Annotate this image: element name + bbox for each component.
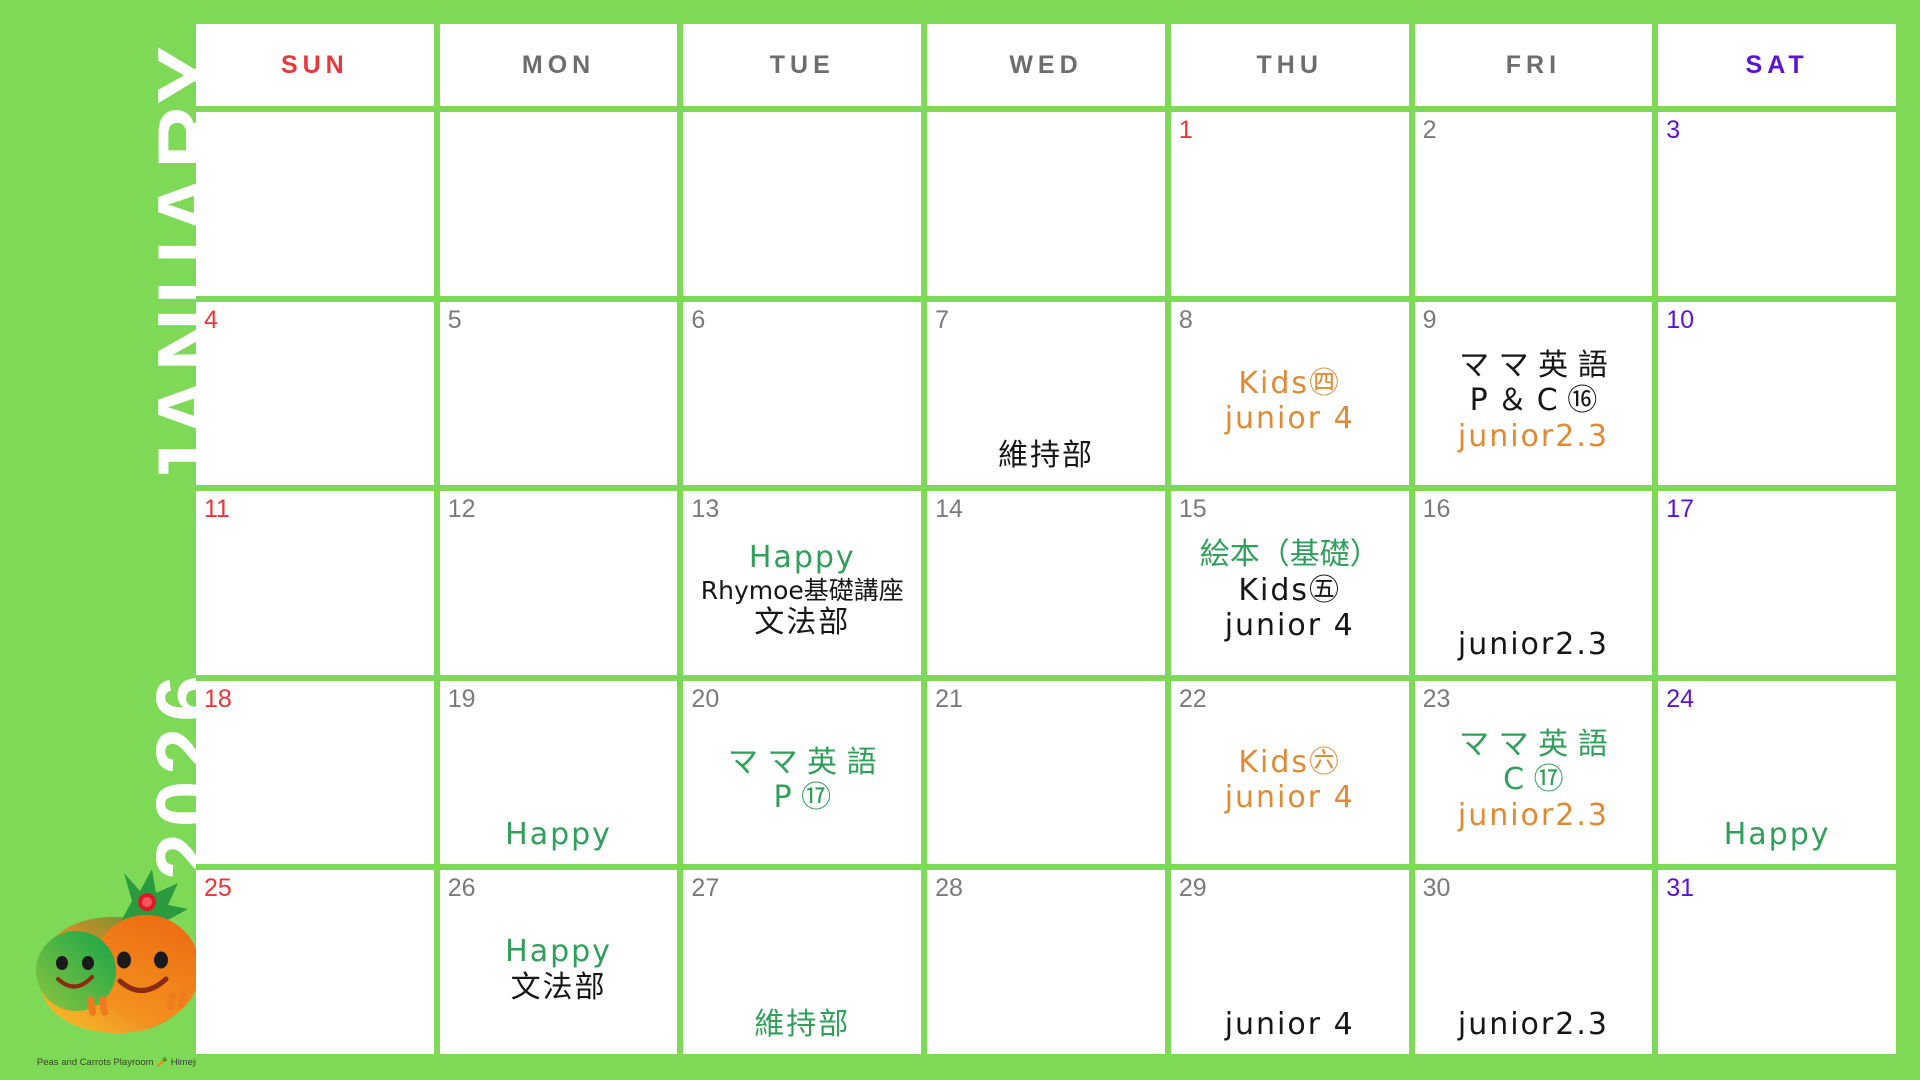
- logo-caption: Peas and Carrots Playroom 🥕 Himeji: [28, 1057, 196, 1068]
- day-cell-9[interactable]: 9マ マ 英 語P ＆ C ⑯junior2.3: [1415, 302, 1653, 486]
- sidebar: JANUARY 2026 .: [0, 0, 196, 1080]
- event-list: junior2.3: [1423, 893, 1645, 1046]
- brand-logo: Peas and Carrots Playroom 🥕 Himeji: [28, 865, 196, 1070]
- day-cell-6[interactable]: 6: [683, 302, 921, 486]
- event-item[interactable]: マ マ 英 語: [1423, 727, 1645, 762]
- day-cell-14[interactable]: 14: [927, 491, 1165, 675]
- weekday-header-mon: MON: [440, 24, 678, 106]
- event-item[interactable]: Happy: [1666, 817, 1888, 852]
- event-item[interactable]: junior2.3: [1423, 627, 1645, 662]
- day-cell-23[interactable]: 23マ マ 英 語C ⑰junior2.3: [1415, 681, 1653, 865]
- year-title: 2026 .: [138, 610, 196, 880]
- day-number: 21: [935, 687, 1157, 712]
- day-cell-19[interactable]: 19Happy: [440, 681, 678, 865]
- day-number: 2: [1423, 118, 1645, 143]
- event-item[interactable]: junior 4: [1179, 608, 1401, 643]
- day-cell-25[interactable]: 25: [196, 870, 434, 1054]
- day-number: 12: [448, 497, 670, 522]
- event-item[interactable]: junior2.3: [1423, 1007, 1645, 1042]
- day-cell-11[interactable]: 11: [196, 491, 434, 675]
- day-cell-12[interactable]: 12: [440, 491, 678, 675]
- event-list: Kids㊅junior 4: [1179, 704, 1401, 857]
- event-item[interactable]: Happy: [691, 540, 913, 575]
- event-list: HappyRhymoe基礎講座文法部: [691, 514, 913, 667]
- day-cell-27[interactable]: 27維持部: [683, 870, 921, 1054]
- event-list: 絵本（基礎）Kids㊄junior 4: [1179, 514, 1401, 667]
- day-cell-empty[interactable]: [927, 112, 1165, 296]
- day-cell-15[interactable]: 15絵本（基礎）Kids㊄junior 4: [1171, 491, 1409, 675]
- day-cell-20[interactable]: 20マ マ 英 語P ⑰: [683, 681, 921, 865]
- month-title: JANUARY: [138, 42, 196, 492]
- day-cell-5[interactable]: 5: [440, 302, 678, 486]
- calendar-grid: SUNMONTUEWEDTHUFRISAT1234567維持部8Kids㊃jun…: [196, 24, 1896, 1054]
- event-list: Kids㊃junior 4: [1179, 325, 1401, 478]
- day-cell-18[interactable]: 18: [196, 681, 434, 865]
- event-item[interactable]: 維持部: [935, 438, 1157, 473]
- day-number: 4: [204, 308, 426, 333]
- event-item[interactable]: Rhymoe基礎講座: [691, 576, 913, 606]
- day-number: 6: [691, 308, 913, 333]
- event-item[interactable]: Happy: [448, 934, 670, 969]
- day-cell-28[interactable]: 28: [927, 870, 1165, 1054]
- event-list: 維持部: [691, 893, 913, 1046]
- weekday-header-wed: WED: [927, 24, 1165, 106]
- month-year-stack: JANUARY 2026 .: [0, 0, 196, 1000]
- day-number: 3: [1666, 118, 1888, 143]
- day-cell-26[interactable]: 26Happy文法部: [440, 870, 678, 1054]
- event-item[interactable]: P ⑰: [691, 780, 913, 815]
- day-cell-17[interactable]: 17: [1658, 491, 1896, 675]
- day-number: 25: [204, 876, 426, 901]
- weekday-header-thu: THU: [1171, 24, 1409, 106]
- weekday-header-sun: SUN: [196, 24, 434, 106]
- day-cell-4[interactable]: 4: [196, 302, 434, 486]
- event-list: 維持部: [935, 325, 1157, 478]
- day-number: 28: [935, 876, 1157, 901]
- event-item[interactable]: junior 4: [1179, 780, 1401, 815]
- event-item[interactable]: junior2.3: [1423, 419, 1645, 454]
- day-cell-16[interactable]: 16junior2.3: [1415, 491, 1653, 675]
- day-number: 17: [1666, 497, 1888, 522]
- day-cell-22[interactable]: 22Kids㊅junior 4: [1171, 681, 1409, 865]
- event-list: Happy: [448, 704, 670, 857]
- day-cell-21[interactable]: 21: [927, 681, 1165, 865]
- event-list: マ マ 英 語P ⑰: [691, 704, 913, 857]
- calendar-page: JANUARY 2026 .: [0, 0, 1920, 1080]
- day-cell-2[interactable]: 2: [1415, 112, 1653, 296]
- day-number: 18: [204, 687, 426, 712]
- event-item[interactable]: Kids㊃: [1179, 366, 1401, 401]
- event-item[interactable]: P ＆ C ⑯: [1423, 383, 1645, 418]
- weekday-header-fri: FRI: [1415, 24, 1653, 106]
- event-item[interactable]: Happy: [448, 817, 670, 852]
- day-number: 11: [204, 497, 426, 522]
- weekday-header-tue: TUE: [683, 24, 921, 106]
- day-cell-30[interactable]: 30junior2.3: [1415, 870, 1653, 1054]
- day-cell-13[interactable]: 13HappyRhymoe基礎講座文法部: [683, 491, 921, 675]
- day-cell-1[interactable]: 1: [1171, 112, 1409, 296]
- event-list: Happy文法部: [448, 893, 670, 1046]
- event-item[interactable]: 文法部: [448, 970, 670, 1005]
- event-list: junior2.3: [1423, 514, 1645, 667]
- day-cell-29[interactable]: 29junior 4: [1171, 870, 1409, 1054]
- day-cell-empty[interactable]: [440, 112, 678, 296]
- event-item[interactable]: マ マ 英 語: [1423, 348, 1645, 383]
- weekday-header-sat: SAT: [1658, 24, 1896, 106]
- day-number: 5: [448, 308, 670, 333]
- day-number: 10: [1666, 308, 1888, 333]
- event-list: Happy: [1666, 704, 1888, 857]
- event-item[interactable]: C ⑰: [1423, 762, 1645, 797]
- day-cell-10[interactable]: 10: [1658, 302, 1896, 486]
- event-list: マ マ 英 語C ⑰junior2.3: [1423, 704, 1645, 857]
- event-list: マ マ 英 語P ＆ C ⑯junior2.3: [1423, 325, 1645, 478]
- event-item[interactable]: マ マ 英 語: [691, 745, 913, 780]
- day-cell-empty[interactable]: [683, 112, 921, 296]
- day-cell-31[interactable]: 31: [1658, 870, 1896, 1054]
- event-item[interactable]: Kids㊅: [1179, 745, 1401, 780]
- event-item[interactable]: junior2.3: [1423, 798, 1645, 833]
- day-cell-8[interactable]: 8Kids㊃junior 4: [1171, 302, 1409, 486]
- day-cell-24[interactable]: 24Happy: [1658, 681, 1896, 865]
- event-item[interactable]: 文法部: [691, 605, 913, 640]
- day-cell-3[interactable]: 3: [1658, 112, 1896, 296]
- event-list: junior 4: [1179, 893, 1401, 1046]
- event-item[interactable]: Kids㊄: [1179, 573, 1401, 608]
- day-number: 31: [1666, 876, 1888, 901]
- day-cell-empty[interactable]: [196, 112, 434, 296]
- event-item[interactable]: 絵本（基礎）: [1179, 537, 1401, 572]
- peas-and-carrots-mascot-icon: [28, 865, 196, 1043]
- day-number: 1: [1179, 118, 1401, 143]
- event-item[interactable]: 維持部: [691, 1007, 913, 1042]
- event-item[interactable]: junior 4: [1179, 1007, 1401, 1042]
- day-number: 14: [935, 497, 1157, 522]
- day-cell-7[interactable]: 7維持部: [927, 302, 1165, 486]
- event-item[interactable]: junior 4: [1179, 401, 1401, 436]
